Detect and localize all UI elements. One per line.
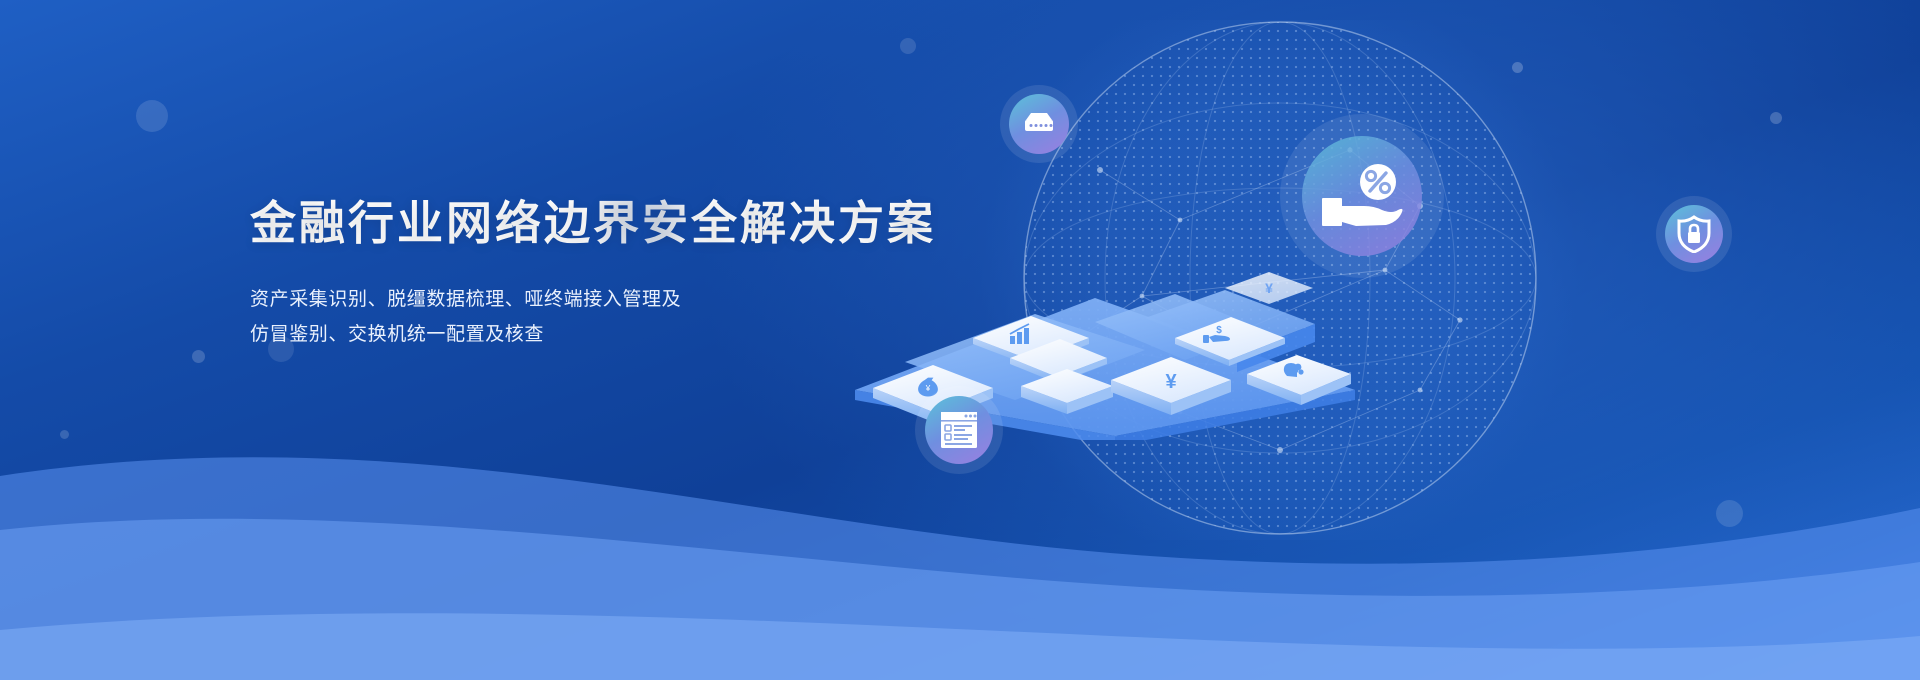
bokeh-dot-small-left: [192, 350, 205, 363]
shield-lock-icon: [1656, 196, 1732, 272]
svg-text:¥: ¥: [1265, 280, 1273, 296]
banner-subtitle: 资产采集识别、脱缰数据梳理、哑终端接入管理及 仿冒鉴别、交换机统一配置及核查: [250, 282, 1010, 352]
finance-security-solution-banner: ¥: [0, 0, 1920, 680]
bokeh-dot-right-edge: [1770, 112, 1782, 124]
page-title: 金融行业网络边界安全解决方案: [250, 196, 1010, 250]
subtitle-line-2: 仿冒鉴别、交换机统一配置及核查: [250, 317, 1010, 352]
bokeh-dot-large-left: [136, 100, 168, 132]
subtitle-line-1: 资产采集识别、脱缰数据梳理、哑终端接入管理及: [250, 282, 1010, 317]
banner-text-block: 金融行业网络边界安全解决方案 资产采集识别、脱缰数据梳理、哑终端接入管理及 仿冒…: [250, 196, 1010, 353]
svg-text:$: $: [1216, 325, 1222, 336]
hand-percent-icon: [1280, 114, 1444, 278]
bokeh-dot-top-mid: [900, 38, 916, 54]
bokeh-dot-top-right: [1512, 62, 1523, 73]
switch-device-icon: [1000, 85, 1078, 163]
